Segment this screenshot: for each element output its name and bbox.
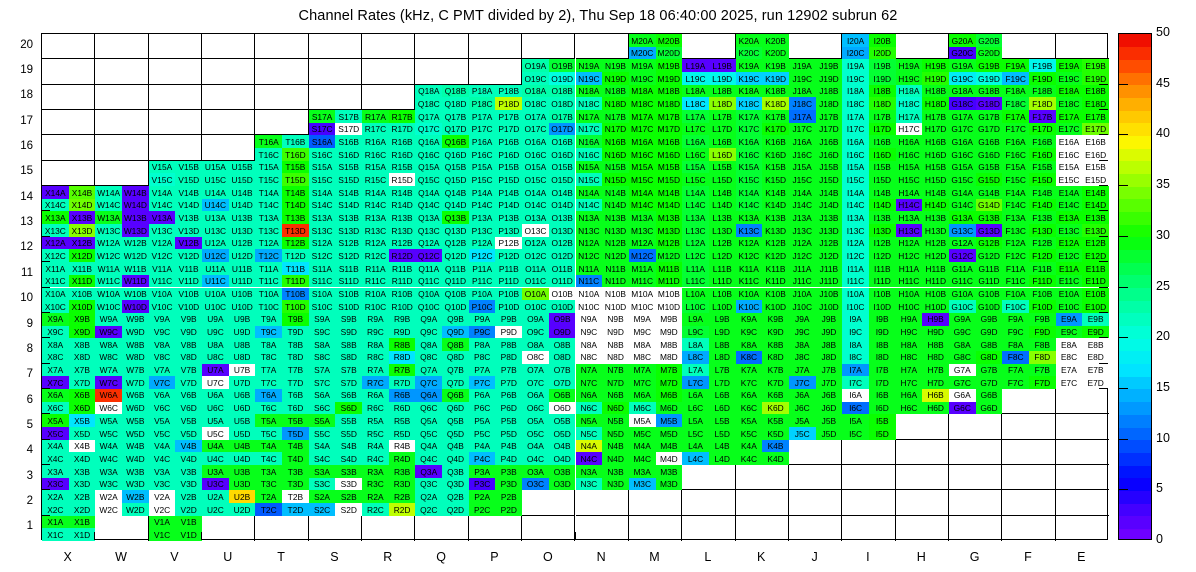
channel-V15B[interactable]: V15B (175, 161, 202, 174)
channel-K10A[interactable]: K10A (736, 288, 763, 301)
channel-S14D[interactable]: S14D (335, 199, 362, 212)
module-N12[interactable]: N12AN12BN12CN12D (576, 237, 629, 262)
channel-T13C[interactable]: T13C (255, 224, 282, 237)
channel-S12B[interactable]: S12B (335, 237, 362, 250)
module-W2[interactable]: W2AW2BW2CW2D (95, 490, 148, 515)
channel-T5B[interactable]: T5B (282, 414, 309, 427)
channel-Q8A[interactable]: Q8A (415, 338, 442, 351)
channel-N19A[interactable]: N19A (576, 59, 603, 72)
channel-Q10A[interactable]: Q10A (415, 288, 442, 301)
channel-P2C[interactable]: P2C (469, 503, 496, 516)
channel-G18A[interactable]: G18A (949, 85, 976, 98)
channel-R10A[interactable]: R10A (362, 288, 389, 301)
module-L4[interactable]: L4AL4BL4CL4D (682, 440, 735, 465)
module-F17[interactable]: F17AF17BF17CF17D (1002, 110, 1055, 135)
channel-O17B[interactable]: O17B (549, 110, 576, 123)
channel-F16B[interactable]: F16B (1029, 135, 1056, 148)
channel-O15B[interactable]: O15B (549, 161, 576, 174)
channel-Q18B[interactable]: Q18B (442, 85, 469, 98)
channel-L4D[interactable]: L4D (709, 452, 736, 465)
channel-H10A[interactable]: H10A (896, 288, 923, 301)
channel-M3D[interactable]: M3D (656, 478, 683, 491)
channel-N4A[interactable]: N4A (576, 440, 603, 453)
channel-J7C[interactable]: J7C (789, 376, 816, 389)
channel-T9B[interactable]: T9B (282, 313, 309, 326)
channel-R16C[interactable]: R16C (362, 148, 389, 161)
module-T1[interactable] (255, 516, 308, 541)
channel-T16B[interactable]: T16B (282, 135, 309, 148)
module-V15[interactable]: V15AV15BV15CV15D (149, 161, 202, 186)
channel-H10C[interactable]: H10C (896, 300, 923, 313)
channel-P16B[interactable]: P16B (495, 135, 522, 148)
channel-V3B[interactable]: V3B (175, 465, 202, 478)
channel-R9A[interactable]: R9A (362, 313, 389, 326)
module-O15[interactable]: O15AO15BO15CO15D (522, 161, 575, 186)
channel-W13D[interactable]: W13D (122, 224, 149, 237)
module-J20[interactable] (789, 34, 842, 59)
module-S3[interactable]: S3AS3BS3CS3D (309, 465, 362, 490)
module-P1[interactable] (469, 516, 522, 541)
channel-V11C[interactable]: V11C (149, 275, 176, 288)
channel-K6B[interactable]: K6B (762, 389, 789, 402)
channel-H19A[interactable]: H19A (896, 59, 923, 72)
channel-F16A[interactable]: F16A (1002, 135, 1029, 148)
channel-M4C[interactable]: M4C (629, 452, 656, 465)
channel-L11A[interactable]: L11A (682, 262, 709, 275)
channel-G18C[interactable]: G18C (949, 97, 976, 110)
channel-O14A[interactable]: O14A (522, 186, 549, 199)
channel-R8A[interactable]: R8A (362, 338, 389, 351)
channel-P18D[interactable]: P18D (495, 97, 522, 110)
channel-R12C[interactable]: R12C (362, 249, 389, 262)
module-W3[interactable]: W3AW3BW3CW3D (95, 465, 148, 490)
channel-N13B[interactable]: N13B (602, 211, 629, 224)
channel-T16C[interactable]: T16C (255, 148, 282, 161)
channel-I13D[interactable]: I13D (869, 224, 896, 237)
channel-J5C[interactable]: J5C (789, 427, 816, 440)
channel-N17B[interactable]: N17B (602, 110, 629, 123)
channel-S17A[interactable]: S17A (309, 110, 336, 123)
channel-H11A[interactable]: H11A (896, 262, 923, 275)
channel-O7D[interactable]: O7D (549, 376, 576, 389)
channel-W6B[interactable]: W6B (122, 389, 149, 402)
channel-G11A[interactable]: G11A (949, 262, 976, 275)
module-K4[interactable]: K4AK4BK4CK4D (736, 440, 789, 465)
channel-Q18C[interactable]: Q18C (415, 97, 442, 110)
channel-O19B[interactable]: O19B (549, 59, 576, 72)
module-X16[interactable] (42, 135, 95, 160)
channel-X10A[interactable]: X10A (42, 288, 69, 301)
module-V19[interactable] (149, 59, 202, 84)
channel-O11A[interactable]: O11A (522, 262, 549, 275)
channel-W4C[interactable]: W4C (95, 452, 122, 465)
channel-R9B[interactable]: R9B (389, 313, 416, 326)
channel-S4D[interactable]: S4D (335, 452, 362, 465)
channel-W12A[interactable]: W12A (95, 237, 122, 250)
channel-O8A[interactable]: O8A (522, 338, 549, 351)
channel-K7C[interactable]: K7C (736, 376, 763, 389)
module-L8[interactable]: L8AL8BL8CL8D (682, 338, 735, 363)
module-S17[interactable]: S17AS17BS17CS17D (309, 110, 362, 135)
channel-G7D[interactable]: G7D (976, 376, 1003, 389)
channel-M19C[interactable]: M19C (629, 72, 656, 85)
channel-R6D[interactable]: R6D (389, 402, 416, 415)
channel-V5D[interactable]: V5D (175, 427, 202, 440)
channel-G16B[interactable]: G16B (976, 135, 1003, 148)
channel-N11B[interactable]: N11B (602, 262, 629, 275)
module-J14[interactable]: J14AJ14BJ14CJ14D (789, 186, 842, 211)
channel-M14C[interactable]: M14C (629, 199, 656, 212)
channel-M14D[interactable]: M14D (656, 199, 683, 212)
channel-K12B[interactable]: K12B (762, 237, 789, 250)
channel-W3C[interactable]: W3C (95, 478, 122, 491)
channel-R9C[interactable]: R9C (362, 326, 389, 339)
channel-S16C[interactable]: S16C (309, 148, 336, 161)
module-M16[interactable]: M16AM16BM16CM16D (629, 135, 682, 160)
channel-L13B[interactable]: L13B (709, 211, 736, 224)
channel-O6C[interactable]: O6C (522, 402, 549, 415)
channel-M18D[interactable]: M18D (656, 97, 683, 110)
module-I20[interactable]: I20AI20BI20CI20D (842, 34, 895, 59)
channel-T16A[interactable]: T16A (255, 135, 282, 148)
module-X6[interactable]: X6AX6BX6CX6D (42, 389, 95, 414)
channel-K6A[interactable]: K6A (736, 389, 763, 402)
channel-K15D[interactable]: K15D (762, 173, 789, 186)
channel-J13B[interactable]: J13B (816, 211, 843, 224)
module-O12[interactable]: O12AO12BO12CO12D (522, 237, 575, 262)
module-J5[interactable]: J5AJ5BJ5CJ5D (789, 414, 842, 439)
channel-W4D[interactable]: W4D (122, 452, 149, 465)
channel-E12B[interactable]: E12B (1082, 237, 1109, 250)
channel-P9D[interactable]: P9D (495, 326, 522, 339)
channel-M18C[interactable]: M18C (629, 97, 656, 110)
module-L6[interactable]: L6AL6BL6CL6D (682, 389, 735, 414)
channel-E18B[interactable]: E18B (1082, 85, 1109, 98)
module-H15[interactable]: H15AH15BH15CH15D (896, 161, 949, 186)
channel-O13A[interactable]: O13A (522, 211, 549, 224)
channel-H18A[interactable]: H18A (896, 85, 923, 98)
module-G9[interactable]: G9AG9BG9CG9D (949, 313, 1002, 338)
channel-S7D[interactable]: S7D (335, 376, 362, 389)
module-K13[interactable]: K13AK13BK13CK13D (736, 211, 789, 236)
channel-P11C[interactable]: P11C (469, 275, 496, 288)
channel-O17C[interactable]: O17C (522, 123, 549, 136)
channel-O6A[interactable]: O6A (522, 389, 549, 402)
channel-T15D[interactable]: T15D (282, 173, 309, 186)
module-H6[interactable]: H6AH6BH6CH6D (896, 389, 949, 414)
module-W10[interactable]: W10AW10BW10CW10D (95, 288, 148, 313)
module-L5[interactable]: L5AL5BL5CL5D (682, 414, 735, 439)
channel-T14B[interactable]: T14B (282, 186, 309, 199)
channel-P10B[interactable]: P10B (495, 288, 522, 301)
channel-V11A[interactable]: V11A (149, 262, 176, 275)
channel-T13A[interactable]: T13A (255, 211, 282, 224)
channel-I8A[interactable]: I8A (842, 338, 869, 351)
channel-H9B[interactable]: H9B (922, 313, 949, 326)
channel-O17D[interactable]: O17D (549, 123, 576, 136)
channel-V7C[interactable]: V7C (149, 376, 176, 389)
channel-X8D[interactable]: X8D (69, 351, 96, 364)
channel-G14A[interactable]: G14A (949, 186, 976, 199)
channel-W10A[interactable]: W10A (95, 288, 122, 301)
channel-L19A[interactable]: L19A (682, 59, 709, 72)
channel-V1B[interactable]: V1B (175, 516, 202, 529)
channel-J5B[interactable]: J5B (816, 414, 843, 427)
channel-P16D[interactable]: P16D (495, 148, 522, 161)
channel-Q16B[interactable]: Q16B (442, 135, 469, 148)
channel-T6D[interactable]: T6D (282, 402, 309, 415)
channel-J8D[interactable]: J8D (816, 351, 843, 364)
channel-S6D[interactable]: S6D (335, 402, 362, 415)
module-G15[interactable]: G15AG15BG15CG15D (949, 161, 1002, 186)
channel-Q5A[interactable]: Q5A (415, 414, 442, 427)
channel-G11B[interactable]: G11B (976, 262, 1003, 275)
module-O18[interactable]: O18AO18BO18CO18D (522, 85, 575, 110)
channel-X4A[interactable]: X4A (42, 440, 69, 453)
channel-V9B[interactable]: V9B (175, 313, 202, 326)
channel-S8B[interactable]: S8B (335, 338, 362, 351)
channel-N18B[interactable]: N18B (602, 85, 629, 98)
module-R19[interactable] (362, 59, 415, 84)
channel-O14C[interactable]: O14C (522, 199, 549, 212)
channel-J17B[interactable]: J17B (816, 110, 843, 123)
channel-N15C[interactable]: N15C (576, 173, 603, 186)
channel-U6B[interactable]: U6B (229, 389, 256, 402)
module-L9[interactable]: L9AL9BL9CL9D (682, 313, 735, 338)
channel-E14B[interactable]: E14B (1082, 186, 1109, 199)
module-V1[interactable]: V1AV1BV1CV1D (149, 516, 202, 541)
channel-V12C[interactable]: V12C (149, 249, 176, 262)
channel-L16C[interactable]: L16C (682, 148, 709, 161)
channel-K17C[interactable]: K17C (736, 123, 763, 136)
channel-L10D[interactable]: L10D (709, 300, 736, 313)
channel-I6C[interactable]: I6C (842, 402, 869, 415)
channel-L17A[interactable]: L17A (682, 110, 709, 123)
channel-I16D[interactable]: I16D (869, 148, 896, 161)
channel-H12C[interactable]: H12C (896, 249, 923, 262)
channel-H8B[interactable]: H8B (922, 338, 949, 351)
channel-H7C[interactable]: H7C (896, 376, 923, 389)
channel-J10D[interactable]: J10D (816, 300, 843, 313)
channel-N18C[interactable]: N18C (576, 97, 603, 110)
channel-K20D[interactable]: K20D (762, 47, 789, 60)
module-I12[interactable]: I12AI12BI12CI12D (842, 237, 895, 262)
channel-H17C[interactable]: H17C (896, 123, 923, 136)
channel-U3A[interactable]: U3A (202, 465, 229, 478)
module-V8[interactable]: V8AV8BV8CV8D (149, 338, 202, 363)
module-R15[interactable]: R15AR15BR15CR15D (362, 161, 415, 186)
channel-I13A[interactable]: I13A (842, 211, 869, 224)
channel-M16D[interactable]: M16D (656, 148, 683, 161)
channel-M10C[interactable]: M10C (629, 300, 656, 313)
channel-F16D[interactable]: F16D (1029, 148, 1056, 161)
channel-S10A[interactable]: S10A (309, 288, 336, 301)
channel-V6D[interactable]: V6D (175, 402, 202, 415)
channel-N5D[interactable]: N5D (602, 427, 629, 440)
channel-Q3A[interactable]: Q3A (415, 465, 442, 478)
channel-H17D[interactable]: H17D (922, 123, 949, 136)
channel-K12C[interactable]: K12C (736, 249, 763, 262)
channel-J6A[interactable]: J6A (789, 389, 816, 402)
channel-G10B[interactable]: G10B (976, 288, 1003, 301)
channel-M9C[interactable]: M9C (629, 326, 656, 339)
channel-J15B[interactable]: J15B (816, 161, 843, 174)
module-I10[interactable]: I10AI10BI10CI10D (842, 288, 895, 313)
channel-L14A[interactable]: L14A (682, 186, 709, 199)
channel-Q17C[interactable]: Q17C (415, 123, 442, 136)
module-J13[interactable]: J13AJ13BJ13CJ13D (789, 211, 842, 236)
channel-R14D[interactable]: R14D (389, 199, 416, 212)
module-J6[interactable]: J6AJ6BJ6CJ6D (789, 389, 842, 414)
channel-Q18A[interactable]: Q18A (415, 85, 442, 98)
channel-U4C[interactable]: U4C (202, 452, 229, 465)
module-S15[interactable]: S15AS15BS15CS15D (309, 161, 362, 186)
module-U20[interactable] (202, 34, 255, 59)
channel-P16A[interactable]: P16A (469, 135, 496, 148)
channel-M5D[interactable]: M5D (656, 427, 683, 440)
channel-R15B[interactable]: R15B (389, 161, 416, 174)
module-U14[interactable]: U14AU14BU14CU14D (202, 186, 255, 211)
channel-L15A[interactable]: L15A (682, 161, 709, 174)
module-R13[interactable]: R13AR13BR13CR13D (362, 211, 415, 236)
channel-T4A[interactable]: T4A (255, 440, 282, 453)
channel-L19D[interactable]: L19D (709, 72, 736, 85)
channel-Q17D[interactable]: Q17D (442, 123, 469, 136)
channel-M4A[interactable]: M4A (629, 440, 656, 453)
channel-L11C[interactable]: L11C (682, 275, 709, 288)
channel-R11C[interactable]: R11C (362, 275, 389, 288)
channel-G17C[interactable]: G17C (949, 123, 976, 136)
channel-R15A[interactable]: R15A (362, 161, 389, 174)
module-X11[interactable]: X11AX11BX11CX11D (42, 262, 95, 287)
module-X20[interactable] (42, 34, 95, 59)
module-W8[interactable]: W8AW8BW8CW8D (95, 338, 148, 363)
channel-M5A[interactable]: M5A (629, 414, 656, 427)
module-T18[interactable] (255, 85, 308, 110)
channel-Q13C[interactable]: Q13C (415, 224, 442, 237)
channel-T12B[interactable]: T12B (282, 237, 309, 250)
channel-K4A[interactable]: K4A (736, 440, 763, 453)
channel-H17B[interactable]: H17B (922, 110, 949, 123)
channel-I15C[interactable]: I15C (842, 173, 869, 186)
module-E4[interactable] (1056, 440, 1109, 465)
channel-T8A[interactable]: T8A (255, 338, 282, 351)
channel-N5B[interactable]: N5B (602, 414, 629, 427)
module-I14[interactable]: I14AI14BI14CI14D (842, 186, 895, 211)
module-P9[interactable]: P9AP9BP9CP9D (469, 313, 522, 338)
module-E19[interactable]: E19AE19BE19CE19D (1056, 59, 1109, 84)
channel-M18B[interactable]: M18B (656, 85, 683, 98)
channel-I12D[interactable]: I12D (869, 249, 896, 262)
channel-Q12C[interactable]: Q12C (415, 249, 442, 262)
channel-L8B[interactable]: L8B (709, 338, 736, 351)
channel-N18A[interactable]: N18A (576, 85, 603, 98)
channel-W10D[interactable]: W10D (122, 300, 149, 313)
channel-T12C[interactable]: T12C (255, 249, 282, 262)
channel-G16A[interactable]: G16A (949, 135, 976, 148)
module-E3[interactable] (1056, 465, 1109, 490)
module-E16[interactable]: E16AE16BE16CE16D (1056, 135, 1109, 160)
channel-T2A[interactable]: T2A (255, 490, 282, 503)
channel-M15A[interactable]: M15A (629, 161, 656, 174)
channel-V12B[interactable]: V12B (175, 237, 202, 250)
module-H13[interactable]: H13AH13BH13CH13D (896, 211, 949, 236)
channel-K20C[interactable]: K20C (736, 47, 763, 60)
channel-E17A[interactable]: E17A (1056, 110, 1083, 123)
channel-F10D[interactable]: F10D (1029, 300, 1056, 313)
module-U11[interactable]: U11AU11BU11CU11D (202, 262, 255, 287)
channel-L18C[interactable]: L18C (682, 97, 709, 110)
module-G7[interactable]: G7AG7BG7CG7D (949, 364, 1002, 389)
module-U8[interactable]: U8AU8BU8CU8D (202, 338, 255, 363)
channel-Q5B[interactable]: Q5B (442, 414, 469, 427)
channel-K8B[interactable]: K8B (762, 338, 789, 351)
channel-X2A[interactable]: X2A (42, 490, 69, 503)
channel-G6C[interactable]: G6C (949, 402, 976, 415)
channel-M6B[interactable]: M6B (656, 389, 683, 402)
channel-X7A[interactable]: X7A (42, 364, 69, 377)
module-I17[interactable]: I17AI17BI17CI17D (842, 110, 895, 135)
channel-N14D[interactable]: N14D (602, 199, 629, 212)
channel-P6D[interactable]: P6D (495, 402, 522, 415)
channel-N6D[interactable]: N6D (602, 402, 629, 415)
channel-L9C[interactable]: L9C (682, 326, 709, 339)
module-X15[interactable] (42, 161, 95, 186)
channel-M12C[interactable]: M12C (629, 249, 656, 262)
module-V4[interactable]: V4AV4BV4CV4D (149, 440, 202, 465)
channel-N10D[interactable]: N10D (602, 300, 629, 313)
channel-M8A[interactable]: M8A (629, 338, 656, 351)
channel-S5C[interactable]: S5C (309, 427, 336, 440)
module-L14[interactable]: L14AL14BL14CL14D (682, 186, 735, 211)
channel-K12D[interactable]: K12D (762, 249, 789, 262)
channel-L5A[interactable]: L5A (682, 414, 709, 427)
channel-F8B[interactable]: F8B (1029, 338, 1056, 351)
channel-R4C[interactable]: R4C (362, 452, 389, 465)
channel-Q6B[interactable]: Q6B (442, 389, 469, 402)
channel-V13A[interactable]: V13A (149, 211, 176, 224)
module-T6[interactable]: T6AT6BT6CT6D (255, 389, 308, 414)
channel-V10A[interactable]: V10A (149, 288, 176, 301)
channel-R13D[interactable]: R13D (389, 224, 416, 237)
channel-R8C[interactable]: R8C (362, 351, 389, 364)
channel-E19C[interactable]: E19C (1056, 72, 1083, 85)
channel-M20C[interactable]: M20C (629, 47, 656, 60)
channel-E9C[interactable]: E9C (1056, 326, 1083, 339)
channel-F12B[interactable]: F12B (1029, 237, 1056, 250)
channel-J12A[interactable]: J12A (789, 237, 816, 250)
channel-K5B[interactable]: K5B (762, 414, 789, 427)
channel-P17D[interactable]: P17D (495, 123, 522, 136)
channel-J10C[interactable]: J10C (789, 300, 816, 313)
module-T9[interactable]: T9AT9BT9CT9D (255, 313, 308, 338)
channel-F9C[interactable]: F9C (1002, 326, 1029, 339)
channel-H12B[interactable]: H12B (922, 237, 949, 250)
channel-I8C[interactable]: I8C (842, 351, 869, 364)
channel-U9B[interactable]: U9B (229, 313, 256, 326)
module-V6[interactable]: V6AV6BV6CV6D (149, 389, 202, 414)
channel-S13D[interactable]: S13D (335, 224, 362, 237)
channel-R11B[interactable]: R11B (389, 262, 416, 275)
module-T19[interactable] (255, 59, 308, 84)
channel-N12B[interactable]: N12B (602, 237, 629, 250)
channel-G9C[interactable]: G9C (949, 326, 976, 339)
channel-M8B[interactable]: M8B (656, 338, 683, 351)
module-M19[interactable]: M19AM19BM19CM19D (629, 59, 682, 84)
channel-R5B[interactable]: R5B (389, 414, 416, 427)
channel-O10B[interactable]: O10B (549, 288, 576, 301)
channel-S3B[interactable]: S3B (335, 465, 362, 478)
